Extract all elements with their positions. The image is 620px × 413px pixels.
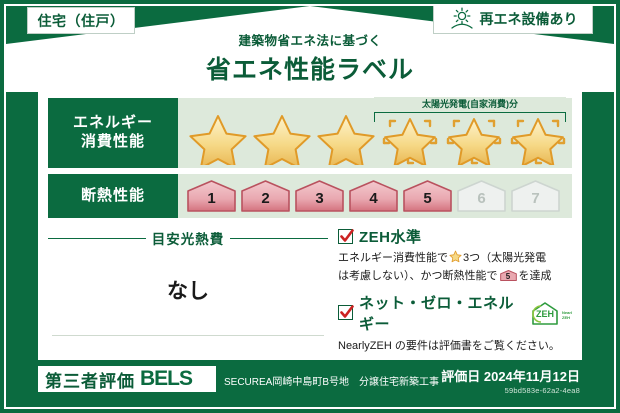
lower-panels: 目安光熱費 なし ZEH水準 エネルギー消費性能で3つ（太陽光発電 [48, 224, 572, 350]
utility-cost-title: 目安光熱費 [152, 228, 225, 248]
insulation-level-value: 5 [402, 190, 453, 207]
energy-performance-body: 太陽光発電(自家消費)分 [178, 98, 572, 168]
renewable-badge-label: 再エネ設備あり [480, 9, 578, 29]
insulation-level-house-inactive: 7 [510, 179, 561, 213]
mini-house-value: 5 [500, 271, 517, 283]
third-party-eval-label: 第三者評価 [45, 367, 135, 392]
utility-cost-value: なし [48, 275, 328, 305]
zeh-standard-description: エネルギー消費性能で3つ（太陽光発電 は考慮しない）、かつ断熱性能で5を達成 [338, 250, 572, 285]
project-name: SECUREA岡崎中島町B号地 分譲住宅新築工事 [224, 373, 439, 388]
insulation-performance-body: 1 2 3 [178, 174, 572, 218]
energy-label-line1: エネルギー [73, 114, 153, 133]
net-zero-energy-title: ネット・ゼロ・エネルギー [359, 292, 520, 334]
energy-performance-label: 建築物省エネ法に基づく 省エネ性能ラベル 住宅（住戸） [0, 0, 620, 413]
energy-performance-row: エネルギー 消費性能 太陽光発電(自家消費)分 [48, 98, 572, 168]
nearly-zeh-note: NearlyZEH の要件は評価書をご覧ください。 [338, 337, 572, 353]
evaluation-id: 59bd583e-62a2-4ea8 [505, 386, 580, 395]
zeh-desc-part-b: 3つ（太陽光発電 [463, 252, 546, 264]
bels-logo-text: BELS [140, 367, 192, 391]
star-solar [442, 111, 506, 165]
solar-bracket-label: 太陽光発電(自家消費)分 [374, 97, 566, 110]
renewable-equipment-badge: 再エネ設備あり [433, 4, 593, 34]
evaluation-date: 評価日 2024年11月12日 [441, 366, 580, 385]
zeh-panel: ZEH水準 エネルギー消費性能で3つ（太陽光発電 は考慮しない）、かつ断熱性能で… [338, 224, 572, 350]
insulation-level-value: 4 [348, 190, 399, 207]
insulation-level-house: 4 [348, 179, 399, 213]
housing-type-badge: 住宅（住戸） [27, 7, 135, 34]
star-solar [378, 111, 442, 165]
insulation-level-value: 2 [240, 190, 291, 207]
sun-icon [449, 7, 475, 31]
housing-type-label: 住宅（住戸） [38, 11, 125, 31]
svg-text:ZEH: ZEH [536, 309, 554, 319]
insulation-performance-label: 断熱性能 [48, 174, 178, 218]
rule-left [48, 238, 146, 239]
insulation-level-house-inactive: 6 [456, 179, 507, 213]
zeh-standard-title: ZEH水準 [359, 226, 422, 247]
insulation-level-group: 1 2 3 [186, 174, 561, 218]
insulation-level-house: 3 [294, 179, 345, 213]
star-filled [314, 111, 378, 165]
svg-text:ZEH: ZEH [562, 315, 570, 320]
checkbox-checked-icon [338, 305, 353, 320]
insulation-level-value: 7 [510, 190, 561, 207]
energy-performance-label: エネルギー 消費性能 [48, 98, 178, 168]
utility-cost-panel: 目安光熱費 なし [48, 224, 328, 350]
insulation-label-text: 断熱性能 [81, 187, 145, 206]
star-filled [250, 111, 314, 165]
insulation-level-value: 3 [294, 190, 345, 207]
insulation-level-value: 1 [186, 190, 237, 207]
net-zero-energy-row: ネット・ゼロ・エネルギー ZEH Nearly ZEH [338, 292, 572, 334]
insulation-performance-row: 断熱性能 1 [48, 174, 572, 218]
main-content-card: エネルギー 消費性能 太陽光発電(自家消費)分 [38, 90, 582, 360]
utility-cost-divider [52, 335, 324, 336]
zeh-desc-part-c: は考慮しない）、かつ断熱性能で [338, 270, 498, 282]
zeh-desc-part-d: を達成 [519, 270, 552, 282]
rule-right [230, 238, 328, 239]
mini-star-icon [449, 250, 462, 269]
zeh-standard-row: ZEH水準 [338, 226, 572, 247]
energy-label-line2: 消費性能 [81, 133, 145, 152]
star-rating-group [178, 110, 572, 166]
star-filled [186, 111, 250, 165]
insulation-level-house: 5 [402, 179, 453, 213]
footer-bar: 第三者評価 BELS SECUREA岡崎中島町B号地 分譲住宅新築工事 評価日 … [38, 364, 582, 406]
star-solar [506, 111, 570, 165]
mini-house-icon: 5 [500, 269, 517, 282]
insulation-level-house: 2 [240, 179, 291, 213]
insulation-level-house: 1 [186, 179, 237, 213]
checkbox-checked-icon [338, 229, 353, 244]
zeh-logo-icon: ZEH Nearly ZEH [528, 300, 572, 326]
utility-cost-header: 目安光熱費 [48, 228, 328, 248]
insulation-level-value: 6 [456, 190, 507, 207]
zeh-desc-part-a: エネルギー消費性能で [338, 252, 448, 264]
bels-certification-box: 第三者評価 BELS [38, 366, 216, 392]
